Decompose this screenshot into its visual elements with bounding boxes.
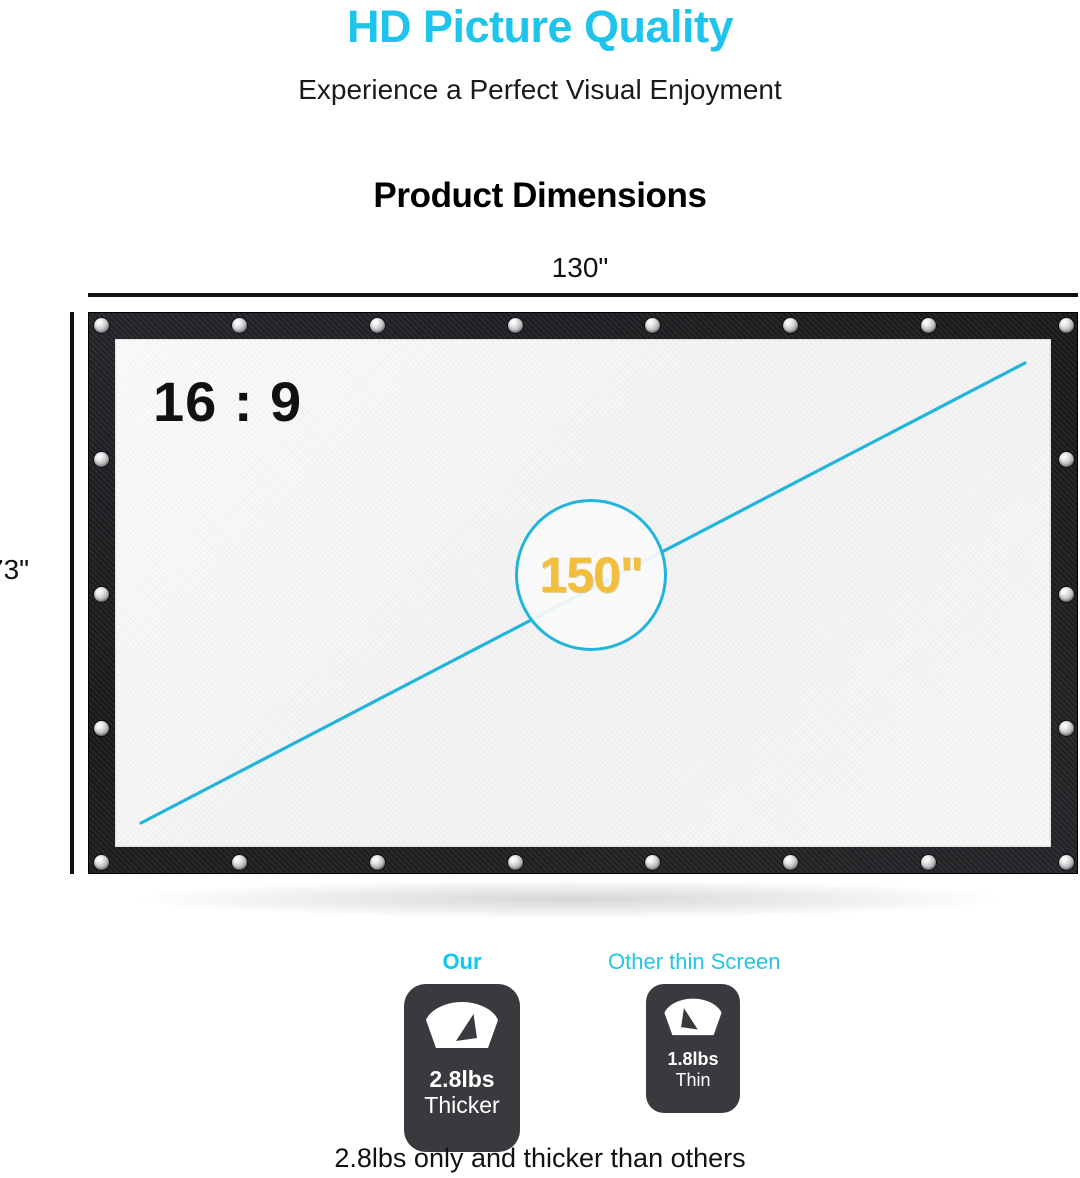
grommet-icon <box>94 318 109 333</box>
diagonal-size-callout: 150" <box>515 499 667 651</box>
comparison-weight-other: 1.8lbs <box>667 1050 718 1069</box>
grommet-icon <box>370 855 385 870</box>
section-title: Product Dimensions <box>0 175 1080 217</box>
grommet-icon <box>94 855 109 870</box>
comparison-weight-ours: 2.8lbs <box>429 1067 494 1091</box>
grommet-icon <box>783 855 798 870</box>
grommet-icon <box>921 318 936 333</box>
diagonal-size-value: 150" <box>539 549 642 601</box>
comparison-column-ours: Our 2.8lbs Thicker <box>382 948 542 1152</box>
grommet-icon <box>232 855 247 870</box>
screen-drop-shadow <box>140 880 1000 918</box>
grommet-icon <box>232 318 247 333</box>
grommet-icon <box>94 587 109 602</box>
grommet-icon <box>508 318 523 333</box>
grommet-icon <box>1059 587 1074 602</box>
grommet-icon <box>1059 318 1074 333</box>
width-dimension-label: 130" <box>0 252 1080 284</box>
grommet-icon <box>508 855 523 870</box>
height-dimension-label: 73" <box>0 554 68 586</box>
comparison-title-other: Other thin Screen <box>608 948 778 976</box>
height-dimension-line <box>70 312 74 874</box>
comparison-card-ours: 2.8lbs Thicker <box>404 984 520 1152</box>
grommet-icon <box>1059 855 1074 870</box>
grommet-icon <box>370 318 385 333</box>
aspect-ratio-label: 16 : 9 <box>153 371 302 433</box>
grommet-icon <box>1059 721 1074 736</box>
screen-fabric-surface: 16 : 9 150" <box>115 339 1051 847</box>
comparison-caption: 2.8lbs only and thicker than others <box>0 1141 1080 1175</box>
page-subheadline: Experience a Perfect Visual Enjoyment <box>0 73 1080 107</box>
grommet-icon <box>921 855 936 870</box>
grommet-icon <box>94 721 109 736</box>
comparison-card-other: 1.8lbs Thin <box>646 984 740 1113</box>
projector-screen: 16 : 9 150" <box>88 312 1078 874</box>
grommet-icon <box>645 855 660 870</box>
grommet-icon <box>783 318 798 333</box>
grommet-icon <box>94 452 109 467</box>
comparison-column-other: Other thin Screen 1.8lbs Thin <box>608 948 778 1113</box>
comparison-subtitle-other: Thin <box>675 1070 710 1090</box>
weight-scale-icon <box>422 1000 502 1058</box>
comparison-subtitle-ours: Thicker <box>424 1093 499 1119</box>
comparison-title-ours: Our <box>382 948 542 976</box>
page-headline: HD Picture Quality <box>0 2 1080 52</box>
grommet-icon <box>1059 452 1074 467</box>
width-dimension-line <box>88 293 1078 297</box>
grommet-icon <box>645 318 660 333</box>
weight-scale-icon <box>661 997 725 1043</box>
